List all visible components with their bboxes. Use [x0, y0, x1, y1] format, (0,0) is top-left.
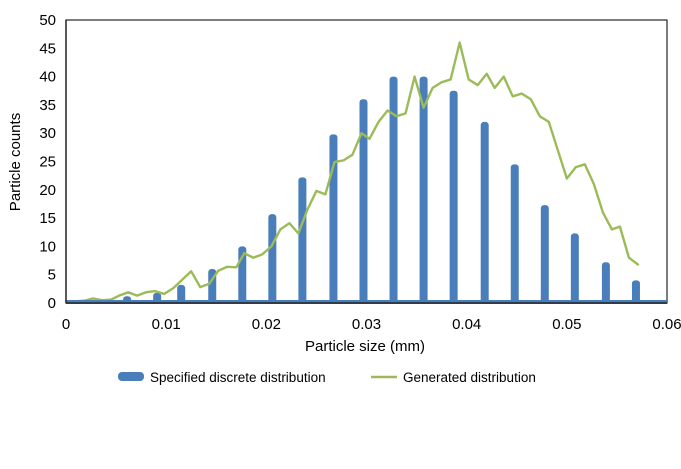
x-axis-title: Particle size (mm): [305, 338, 425, 355]
bar: [450, 91, 458, 303]
y-tick-label: 0: [48, 295, 56, 312]
bar: [602, 262, 610, 303]
legend-swatch-bar: [118, 372, 144, 381]
x-tick-label: 0: [62, 316, 70, 333]
y-tick-label: 45: [39, 40, 56, 57]
legend-label: Generated distribution: [403, 370, 536, 385]
y-tick-label: 30: [39, 125, 56, 142]
bar: [511, 164, 519, 303]
y-tick-label: 5: [48, 267, 56, 284]
y-tick-label: 40: [39, 69, 56, 86]
x-tick-label: 0.06: [652, 316, 681, 333]
bar: [420, 77, 428, 303]
x-tick-label: 0.05: [552, 316, 581, 333]
chart-container: 05101520253035404550 00.010.020.030.040.…: [0, 0, 681, 464]
bar: [329, 134, 337, 303]
y-tick-label: 10: [39, 238, 56, 255]
chart-background: [0, 0, 681, 464]
x-tick-label: 0.02: [252, 316, 281, 333]
y-tick-label: 15: [39, 210, 56, 227]
bar: [359, 99, 367, 303]
y-tick-label: 20: [39, 182, 56, 199]
legend-item: Specified discrete distribution: [118, 370, 326, 385]
y-axis-title: Particle counts: [7, 113, 24, 211]
y-tick-label: 50: [39, 12, 56, 29]
bar: [541, 205, 549, 303]
bar: [571, 233, 579, 303]
legend-label: Specified discrete distribution: [150, 370, 326, 385]
x-tick-label: 0.04: [452, 316, 481, 333]
y-tick-label: 25: [39, 154, 56, 171]
particle-size-distribution-chart: 05101520253035404550 00.010.020.030.040.…: [0, 0, 681, 464]
bar: [632, 280, 640, 303]
bar: [298, 177, 306, 303]
bar: [268, 214, 276, 303]
x-tick-label: 0.03: [352, 316, 381, 333]
bar: [390, 77, 398, 303]
bar: [481, 122, 489, 303]
y-tick-label: 35: [39, 97, 56, 114]
x-tick-label: 0.01: [152, 316, 181, 333]
